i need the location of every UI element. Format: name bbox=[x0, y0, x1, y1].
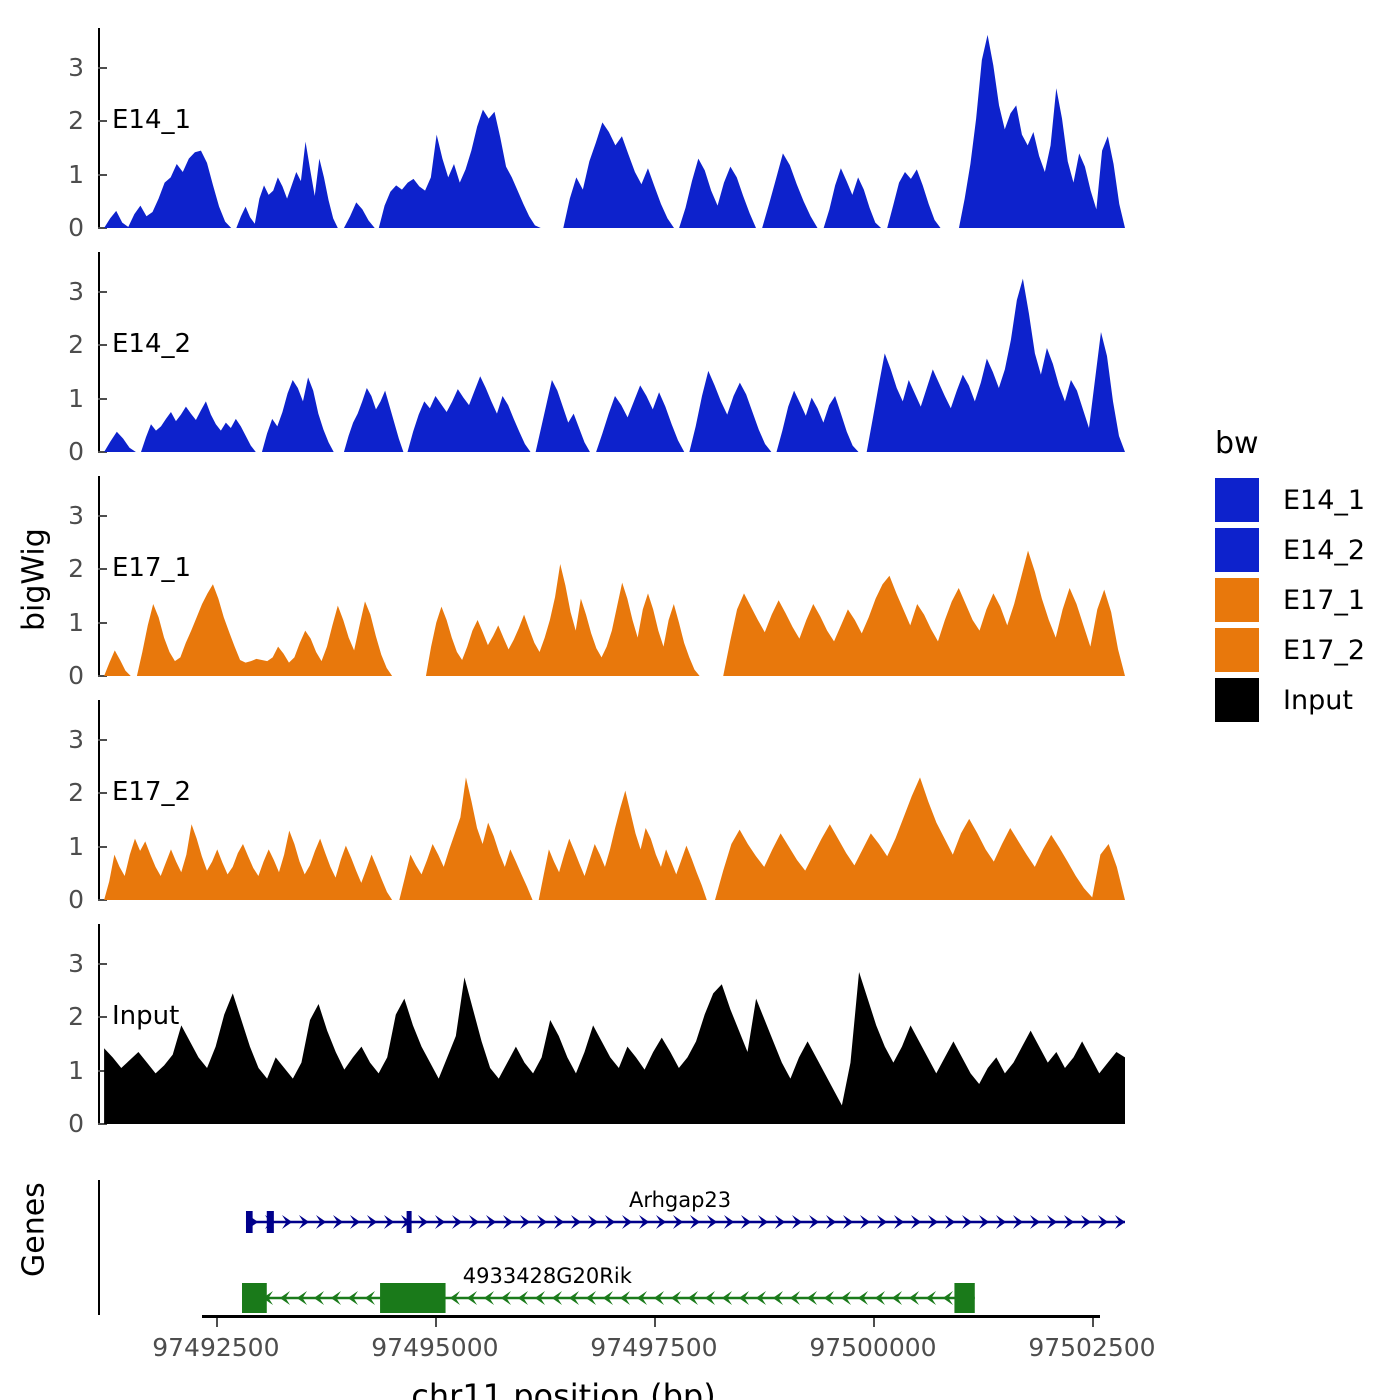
y-tick-label: 2 bbox=[68, 106, 84, 135]
x-tick-mark bbox=[654, 1318, 656, 1327]
coverage-segment bbox=[723, 551, 1125, 676]
y-tick-label: 2 bbox=[68, 554, 84, 583]
x-tick-mark bbox=[435, 1318, 437, 1327]
coverage-segment bbox=[104, 972, 1125, 1124]
gene-exon-block bbox=[267, 1211, 274, 1233]
coverage-segment bbox=[104, 824, 392, 900]
y-tick-label: 3 bbox=[68, 949, 84, 978]
y-tick-label: 1 bbox=[68, 832, 84, 861]
coverage-area-e14_2 bbox=[100, 252, 1125, 452]
y-tick-label: 1 bbox=[68, 1056, 84, 1085]
coverage-segment bbox=[236, 142, 337, 228]
track-panel-input: 0123Input bbox=[98, 924, 1125, 1124]
x-tick-mark bbox=[873, 1318, 875, 1327]
y-tick-label: 3 bbox=[68, 725, 84, 754]
legend-color-swatch bbox=[1215, 628, 1259, 672]
x-tick-label: 97500000 bbox=[809, 1333, 936, 1362]
y-tick-label: 0 bbox=[68, 661, 84, 690]
legend-item-label: E14_1 bbox=[1283, 485, 1365, 516]
legend-item-label: E14_2 bbox=[1283, 535, 1365, 566]
coverage-segment bbox=[408, 376, 531, 452]
legend-item-label: Input bbox=[1283, 685, 1353, 716]
coverage-segment bbox=[563, 122, 674, 228]
coverage-segment bbox=[596, 385, 684, 452]
x-tick-label: 97497500 bbox=[590, 1333, 717, 1362]
coverage-segment bbox=[344, 388, 403, 452]
y-tick-label: 3 bbox=[68, 501, 84, 530]
legend-color-swatch bbox=[1215, 528, 1259, 572]
genes-panel: Arhgap234933428G20Rik bbox=[98, 1180, 1125, 1315]
legend-item-label: E17_1 bbox=[1283, 585, 1365, 616]
y-axis-label-bigwig: bigWig bbox=[14, 470, 54, 690]
coverage-segment bbox=[867, 279, 1125, 452]
x-axis-title: chr11 position (bp) bbox=[0, 1377, 1127, 1400]
coverage-segment bbox=[887, 169, 940, 228]
coverage-area-input bbox=[100, 924, 1125, 1124]
coverage-segment bbox=[262, 377, 334, 452]
gene-name-label: 4933428G20Rik bbox=[463, 1264, 632, 1288]
coverage-segment bbox=[104, 650, 131, 676]
y-tick-label: 0 bbox=[68, 1109, 84, 1138]
coverage-segment bbox=[959, 35, 1125, 228]
legend-title: bw bbox=[1215, 426, 1259, 461]
coverage-segment bbox=[536, 380, 590, 452]
gene-models bbox=[100, 1180, 1125, 1315]
coverage-area-e17_2 bbox=[100, 700, 1125, 900]
y-tick-label: 1 bbox=[68, 608, 84, 637]
y-tick-label: 3 bbox=[68, 277, 84, 306]
y-tick-label: 2 bbox=[68, 330, 84, 359]
y-tick-label: 0 bbox=[68, 885, 84, 914]
track-panel-e14_1: 0123E14_1 bbox=[98, 28, 1125, 228]
track-panel-e17_1: 0123E17_1 bbox=[98, 476, 1125, 676]
coverage-segment bbox=[689, 371, 771, 452]
y-axis-label-genes: Genes bbox=[14, 1165, 54, 1295]
gene-exon-block bbox=[380, 1283, 445, 1313]
coverage-area-e14_1 bbox=[100, 28, 1125, 228]
legend-item-e17_2[interactable]: E17_2 bbox=[1215, 628, 1365, 672]
legend-item-e17_1[interactable]: E17_1 bbox=[1215, 578, 1365, 622]
genome-browser-figure: bigWig Genes 0123E14_10123E14_20123E17_1… bbox=[0, 0, 1400, 1400]
track-label-input: Input bbox=[112, 1001, 179, 1031]
track-label-e14_2: E14_2 bbox=[112, 329, 191, 359]
gene-exon-block bbox=[242, 1283, 267, 1313]
y-tick-label: 2 bbox=[68, 1002, 84, 1031]
gene-exon-block bbox=[954, 1283, 974, 1313]
gene-exon-block bbox=[407, 1211, 412, 1233]
coverage-segment bbox=[399, 777, 532, 900]
x-tick-label: 97495000 bbox=[371, 1333, 498, 1362]
track-panel-e14_2: 0123E14_2 bbox=[98, 252, 1125, 452]
x-axis-line bbox=[202, 1315, 1100, 1318]
legend-item-label: E17_2 bbox=[1283, 635, 1365, 666]
coverage-segment bbox=[762, 153, 817, 228]
gene-name-label: Arhgap23 bbox=[629, 1188, 731, 1212]
x-tick-mark bbox=[216, 1318, 218, 1327]
y-tick-label: 0 bbox=[68, 437, 84, 466]
legend-color-swatch bbox=[1215, 678, 1259, 722]
coverage-segment bbox=[379, 110, 541, 228]
coverage-area-e17_1 bbox=[100, 476, 1125, 676]
coverage-segment bbox=[104, 151, 231, 228]
track-panel-e17_2: 0123E17_2 bbox=[98, 700, 1125, 900]
legend-color-swatch bbox=[1215, 478, 1259, 522]
coverage-segment bbox=[777, 391, 859, 452]
coverage-segment bbox=[426, 564, 700, 676]
coverage-segment bbox=[539, 791, 707, 900]
y-tick-label: 2 bbox=[68, 778, 84, 807]
y-tick-label: 1 bbox=[68, 160, 84, 189]
track-label-e17_2: E17_2 bbox=[112, 777, 191, 807]
coverage-segment bbox=[344, 202, 375, 228]
coverage-segment bbox=[715, 777, 1125, 900]
track-label-e14_1: E14_1 bbox=[112, 105, 191, 135]
legend-item-e14_1[interactable]: E14_1 bbox=[1215, 478, 1365, 522]
gene-exon-block bbox=[246, 1211, 253, 1233]
track-label-e17_1: E17_1 bbox=[112, 553, 191, 583]
y-tick-label: 1 bbox=[68, 384, 84, 413]
legend-item-input[interactable]: Input bbox=[1215, 678, 1353, 722]
coverage-segment bbox=[679, 159, 756, 228]
coverage-segment bbox=[104, 432, 136, 452]
x-tick-mark bbox=[1092, 1318, 1094, 1327]
y-tick-label: 3 bbox=[68, 53, 84, 82]
x-tick-label: 97502500 bbox=[1028, 1333, 1155, 1362]
coverage-segment bbox=[824, 168, 881, 228]
legend-color-swatch bbox=[1215, 578, 1259, 622]
legend-item-e14_2[interactable]: E14_2 bbox=[1215, 528, 1365, 572]
y-tick-label: 0 bbox=[68, 213, 84, 242]
x-tick-label: 97492500 bbox=[152, 1333, 279, 1362]
coverage-segment bbox=[141, 401, 256, 452]
coverage-segment bbox=[137, 584, 392, 676]
